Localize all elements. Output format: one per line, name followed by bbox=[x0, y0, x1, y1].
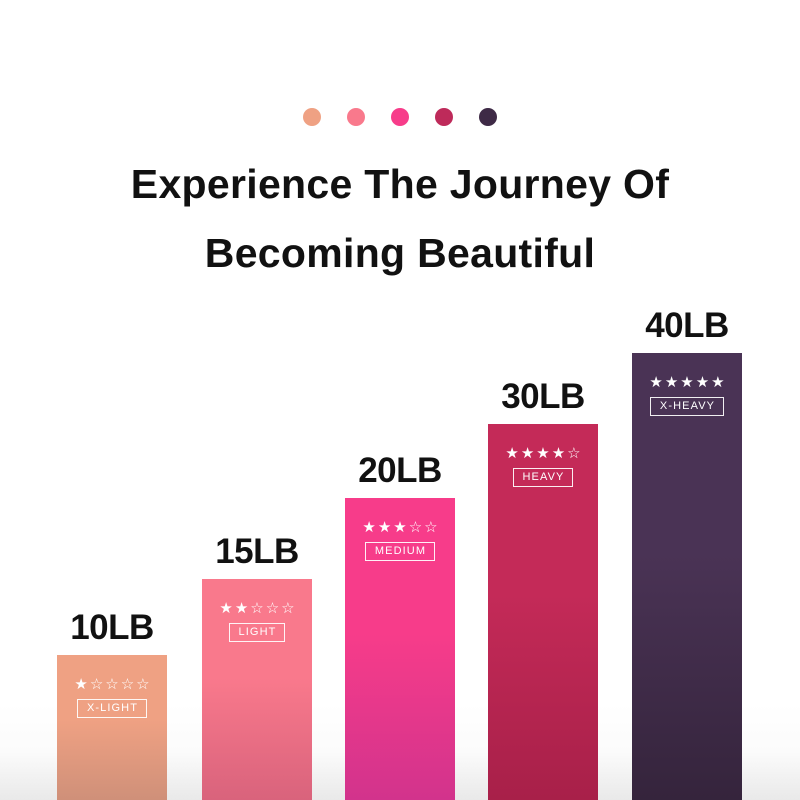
star-filled-icon: ★ bbox=[680, 375, 693, 390]
bar-group-40lb[interactable]: 40LB★★★★★X-HEAVY bbox=[632, 353, 742, 800]
bar-rating-block-30lb: ★★★★☆HEAVY bbox=[488, 446, 598, 487]
star-filled-icon: ★ bbox=[649, 375, 662, 390]
star-filled-icon: ★ bbox=[536, 446, 549, 461]
bar-fill-20lb: ★★★☆☆MEDIUM bbox=[345, 498, 455, 800]
star-filled-icon: ★ bbox=[521, 446, 534, 461]
star-empty-icon: ☆ bbox=[250, 601, 263, 616]
bar-rating-block-20lb: ★★★☆☆MEDIUM bbox=[345, 520, 455, 561]
star-empty-icon: ☆ bbox=[90, 677, 103, 692]
star-filled-icon: ★ bbox=[552, 446, 565, 461]
strength-badge-10lb: X-LIGHT bbox=[77, 699, 147, 718]
star-empty-icon: ☆ bbox=[424, 520, 437, 535]
strength-badge-40lb: X-HEAVY bbox=[650, 397, 724, 416]
star-filled-icon: ★ bbox=[393, 520, 406, 535]
star-filled-icon: ★ bbox=[74, 677, 87, 692]
star-filled-icon: ★ bbox=[696, 375, 709, 390]
bar-value-label-15lb: 15LB bbox=[215, 532, 299, 572]
color-dot-row bbox=[0, 108, 800, 126]
bar-value-label-30lb: 30LB bbox=[501, 377, 585, 417]
star-filled-icon: ★ bbox=[235, 601, 248, 616]
bar-value-label-10lb: 10LB bbox=[70, 608, 154, 648]
poster-canvas: Experience The Journey Of Becoming Beaut… bbox=[0, 0, 800, 800]
headline-line-2: Becoming Beautiful bbox=[0, 219, 800, 288]
bar-value-label-20lb: 20LB bbox=[358, 451, 442, 491]
strength-badge-20lb: MEDIUM bbox=[365, 542, 435, 561]
star-rating-40lb: ★★★★★ bbox=[649, 375, 724, 390]
dot-x-light bbox=[303, 108, 321, 126]
page-title: Experience The Journey Of Becoming Beaut… bbox=[0, 150, 800, 288]
bar-group-10lb[interactable]: 10LB★☆☆☆☆X-LIGHT bbox=[57, 655, 167, 800]
strength-badge-30lb: HEAVY bbox=[513, 468, 574, 487]
star-filled-icon: ★ bbox=[505, 446, 518, 461]
star-empty-icon: ☆ bbox=[121, 677, 134, 692]
bar-fill-30lb: ★★★★☆HEAVY bbox=[488, 424, 598, 800]
bar-rating-block-15lb: ★★☆☆☆LIGHT bbox=[202, 601, 312, 642]
bar-group-15lb[interactable]: 15LB★★☆☆☆LIGHT bbox=[202, 579, 312, 800]
star-filled-icon: ★ bbox=[711, 375, 724, 390]
strength-badge-15lb: LIGHT bbox=[229, 623, 286, 642]
dot-light bbox=[347, 108, 365, 126]
star-empty-icon: ☆ bbox=[266, 601, 279, 616]
star-rating-15lb: ★★☆☆☆ bbox=[219, 601, 294, 616]
star-rating-20lb: ★★★☆☆ bbox=[362, 520, 437, 535]
headline-line-1: Experience The Journey Of bbox=[0, 150, 800, 219]
star-rating-30lb: ★★★★☆ bbox=[505, 446, 580, 461]
star-empty-icon: ☆ bbox=[567, 446, 580, 461]
bar-fill-10lb: ★☆☆☆☆X-LIGHT bbox=[57, 655, 167, 800]
star-filled-icon: ★ bbox=[665, 375, 678, 390]
bar-rating-block-40lb: ★★★★★X-HEAVY bbox=[632, 375, 742, 416]
star-filled-icon: ★ bbox=[362, 520, 375, 535]
star-filled-icon: ★ bbox=[378, 520, 391, 535]
star-empty-icon: ☆ bbox=[409, 520, 422, 535]
bar-fill-15lb: ★★☆☆☆LIGHT bbox=[202, 579, 312, 800]
bar-value-label-40lb: 40LB bbox=[645, 306, 729, 346]
star-filled-icon: ★ bbox=[219, 601, 232, 616]
star-empty-icon: ☆ bbox=[136, 677, 149, 692]
resistance-bar-chart: 10LB★☆☆☆☆X-LIGHT15LB★★☆☆☆LIGHT20LB★★★☆☆M… bbox=[0, 280, 800, 800]
bar-group-30lb[interactable]: 30LB★★★★☆HEAVY bbox=[488, 424, 598, 800]
star-empty-icon: ☆ bbox=[105, 677, 118, 692]
bar-rating-block-10lb: ★☆☆☆☆X-LIGHT bbox=[57, 677, 167, 718]
dot-x-heavy bbox=[479, 108, 497, 126]
bar-fill-40lb: ★★★★★X-HEAVY bbox=[632, 353, 742, 800]
star-rating-10lb: ★☆☆☆☆ bbox=[74, 677, 149, 692]
bar-group-20lb[interactable]: 20LB★★★☆☆MEDIUM bbox=[345, 498, 455, 800]
dot-medium bbox=[391, 108, 409, 126]
star-empty-icon: ☆ bbox=[281, 601, 294, 616]
dot-heavy bbox=[435, 108, 453, 126]
